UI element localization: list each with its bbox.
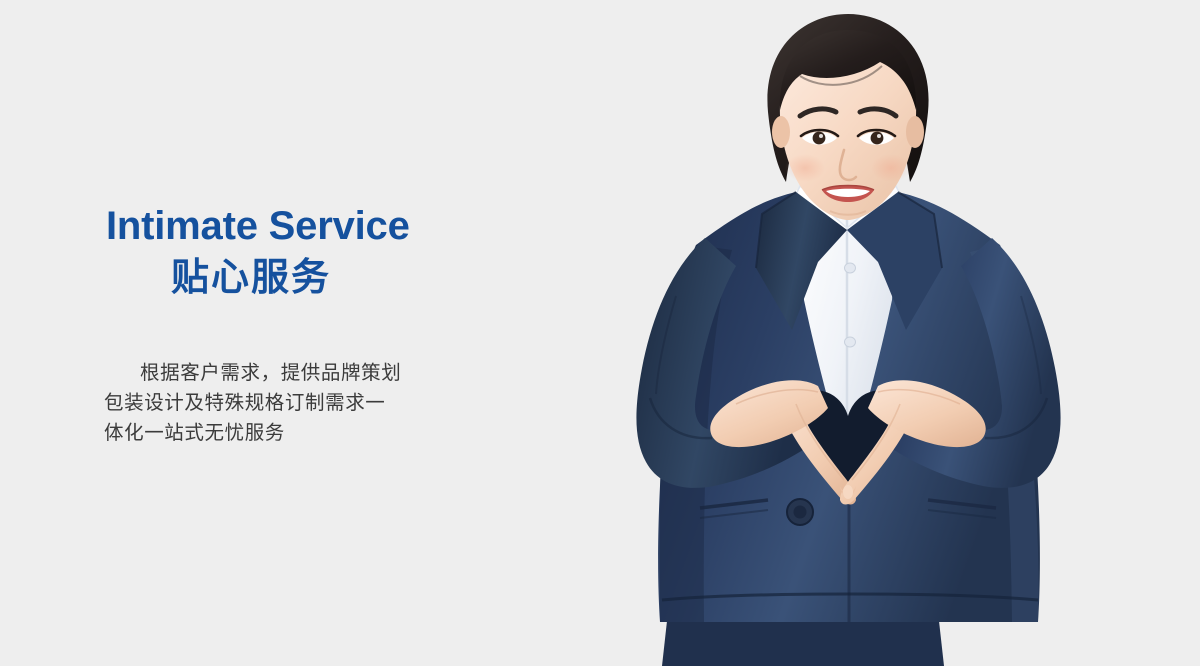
body-copy: 根据客户需求，提供品牌策划包装设计及特殊规格订制需求一体化一站式无忧服务	[104, 358, 404, 448]
headline-chinese: 贴心服务	[106, 258, 396, 296]
intimate-service-banner: Intimate Service 贴心服务 根据客户需求，提供品牌策划包装设计及…	[0, 0, 1200, 666]
jacket-button	[787, 499, 813, 525]
body-copy-text: 根据客户需求，提供品牌策划包装设计及特殊规格订制需求一体化一站式无忧服务	[104, 361, 401, 444]
businesswoman-photo	[500, 0, 1200, 666]
head	[767, 14, 928, 220]
copy-block: Intimate Service 贴心服务 根据客户需求，提供品牌策划包装设计及…	[0, 0, 470, 666]
headline-english: Intimate Service	[106, 206, 410, 246]
